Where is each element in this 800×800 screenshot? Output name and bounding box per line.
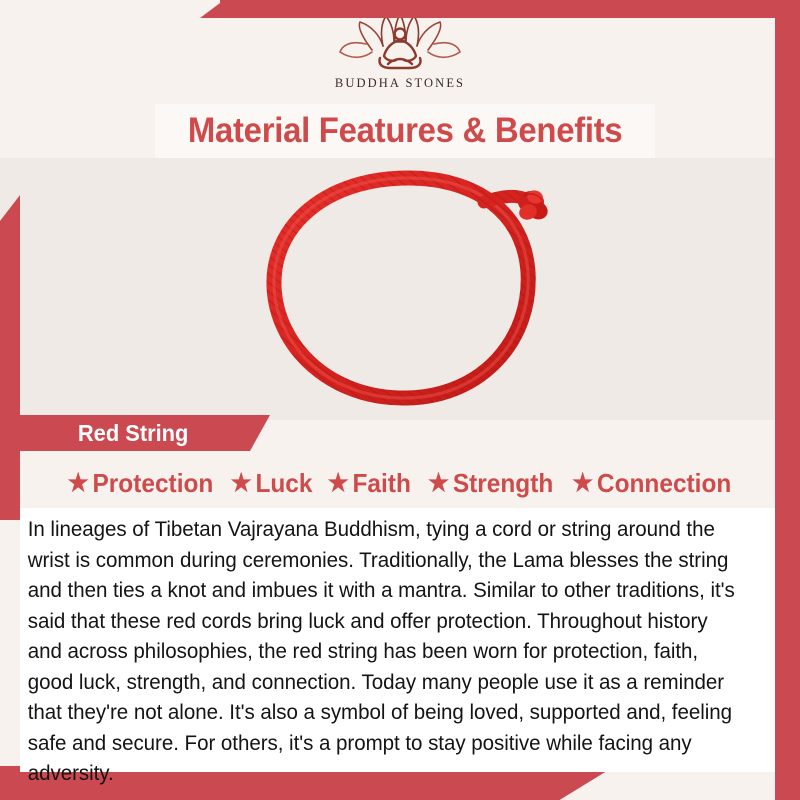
page-title: Material Features & Benefits: [188, 111, 623, 151]
feature-item-strength: ★ Strength: [428, 468, 553, 499]
description-block: In lineages of Tibetan Vajrayana Buddhis…: [20, 508, 775, 772]
feature-item-protection: ★ Protection: [68, 468, 214, 499]
feature-label: Faith: [353, 468, 411, 499]
star-icon: ★: [428, 471, 449, 496]
feature-item-faith: ★ Faith: [328, 468, 411, 499]
star-icon: ★: [231, 471, 252, 496]
feature-label: Strength: [453, 468, 553, 499]
brand-logo: BUDDHA STONES: [0, 12, 800, 91]
features-row: ★ Protection ★ Luck ★ Faith ★ Strength ★…: [0, 463, 800, 503]
product-name-label: Red String: [78, 420, 188, 447]
product-name-banner: Red String: [20, 415, 270, 451]
red-string-bracelet-image: [232, 152, 592, 432]
star-icon: ★: [68, 471, 89, 496]
star-icon: ★: [572, 471, 593, 496]
feature-label: Protection: [93, 468, 214, 499]
feature-label: Luck: [256, 468, 313, 499]
poster-root: BUDDHA STONES Material Features & Benefi…: [0, 0, 800, 800]
title-band: Material Features & Benefits: [155, 104, 655, 158]
product-image-zone: [0, 158, 800, 420]
feature-label: Connection: [597, 468, 731, 499]
description-paragraph: In lineages of Tibetan Vajrayana Buddhis…: [20, 512, 749, 789]
lotus-meditation-icon: [336, 12, 464, 74]
feature-item-connection: ★ Connection: [572, 468, 731, 499]
star-icon: ★: [328, 471, 349, 496]
brand-name: BUDDHA STONES: [335, 76, 465, 91]
top-red-band: [220, 0, 800, 18]
feature-item-luck: ★ Luck: [231, 468, 313, 499]
right-red-bar: [775, 18, 800, 800]
